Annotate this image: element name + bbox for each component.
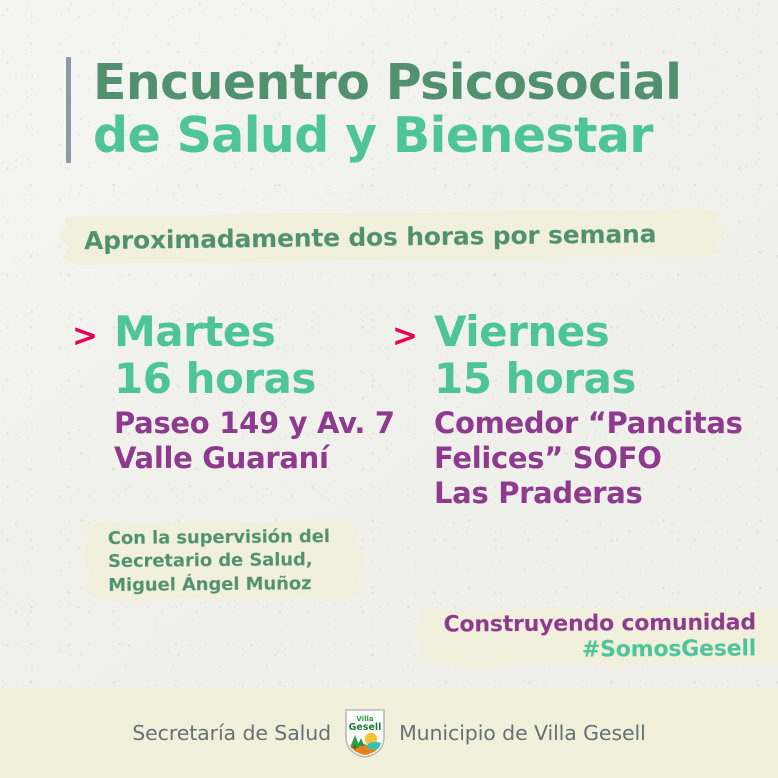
session-day: Viernes bbox=[434, 308, 752, 355]
session-place-line: Comedor “Pancitas bbox=[434, 406, 752, 441]
slogan-text: Construyendo comunidad #SomosGesell bbox=[443, 610, 756, 663]
session-hour: 15 horas bbox=[434, 355, 752, 402]
svg-text:Gesell: Gesell bbox=[349, 722, 382, 733]
chevron-right-icon: > bbox=[392, 321, 418, 352]
chevron-right-icon: > bbox=[72, 321, 98, 352]
supervision-line: Con la supervisión del bbox=[108, 525, 330, 550]
title-accent-rule bbox=[66, 57, 71, 163]
supervision-line: Secretario de Salud, bbox=[108, 548, 330, 573]
session-body: Viernes 15 horas Comedor “Pancitas Felic… bbox=[434, 308, 752, 511]
title-lines: Encuentro Psicosocial de Salud y Bienest… bbox=[93, 57, 681, 163]
supervision-text: Con la supervisión del Secretario de Sal… bbox=[108, 525, 331, 597]
slogan-line-1: Construyendo comunidad bbox=[443, 610, 756, 638]
session-day: Martes bbox=[114, 308, 392, 355]
session-place: Paseo 149 y Av. 7 Valle Guaraní bbox=[114, 406, 392, 476]
session-body: Martes 16 horas Paseo 149 y Av. 7 Valle … bbox=[114, 308, 392, 476]
page-title: Encuentro Psicosocial de Salud y Bienest… bbox=[66, 57, 681, 163]
footer-right-text: Municipio de Villa Gesell bbox=[399, 721, 646, 745]
session-place-line: Las Praderas bbox=[434, 476, 752, 511]
supervision-tape: Con la supervisión del Secretario de Sal… bbox=[82, 518, 365, 604]
subtitle-text: Aproximadamente dos horas por semana bbox=[84, 219, 657, 255]
session-card-viernes: > Viernes 15 horas Comedor “Pancitas Fel… bbox=[392, 308, 752, 511]
session-hour: 16 horas bbox=[114, 355, 392, 402]
session-place-line: Valle Guaraní bbox=[114, 441, 392, 476]
title-line-2: de Salud y Bienestar bbox=[93, 110, 681, 163]
subtitle-tape: Aproximadamente dos horas por semana bbox=[58, 207, 727, 267]
slogan-tape: Construyendo comunidad #SomosGesell bbox=[412, 605, 778, 670]
session-place-line: Paseo 149 y Av. 7 bbox=[114, 406, 392, 441]
footer-left-text: Secretaría de Salud bbox=[132, 721, 331, 745]
slogan-hashtag: #SomosGesell bbox=[444, 636, 757, 664]
footer-bar: Secretaría de Salud Villa bbox=[0, 688, 778, 778]
session-place-line: Felices” SOFO bbox=[434, 441, 752, 476]
session-card-martes: > Martes 16 horas Paseo 149 y Av. 7 Vall… bbox=[72, 308, 392, 476]
title-line-1: Encuentro Psicosocial bbox=[93, 57, 681, 110]
poster-canvas: Encuentro Psicosocial de Salud y Bienest… bbox=[0, 0, 778, 778]
session-place: Comedor “Pancitas Felices” SOFO Las Prad… bbox=[434, 406, 752, 511]
supervision-line: Miguel Ángel Muñoz bbox=[108, 572, 330, 597]
villa-gesell-shield-logo: Villa Gesell bbox=[343, 707, 387, 759]
